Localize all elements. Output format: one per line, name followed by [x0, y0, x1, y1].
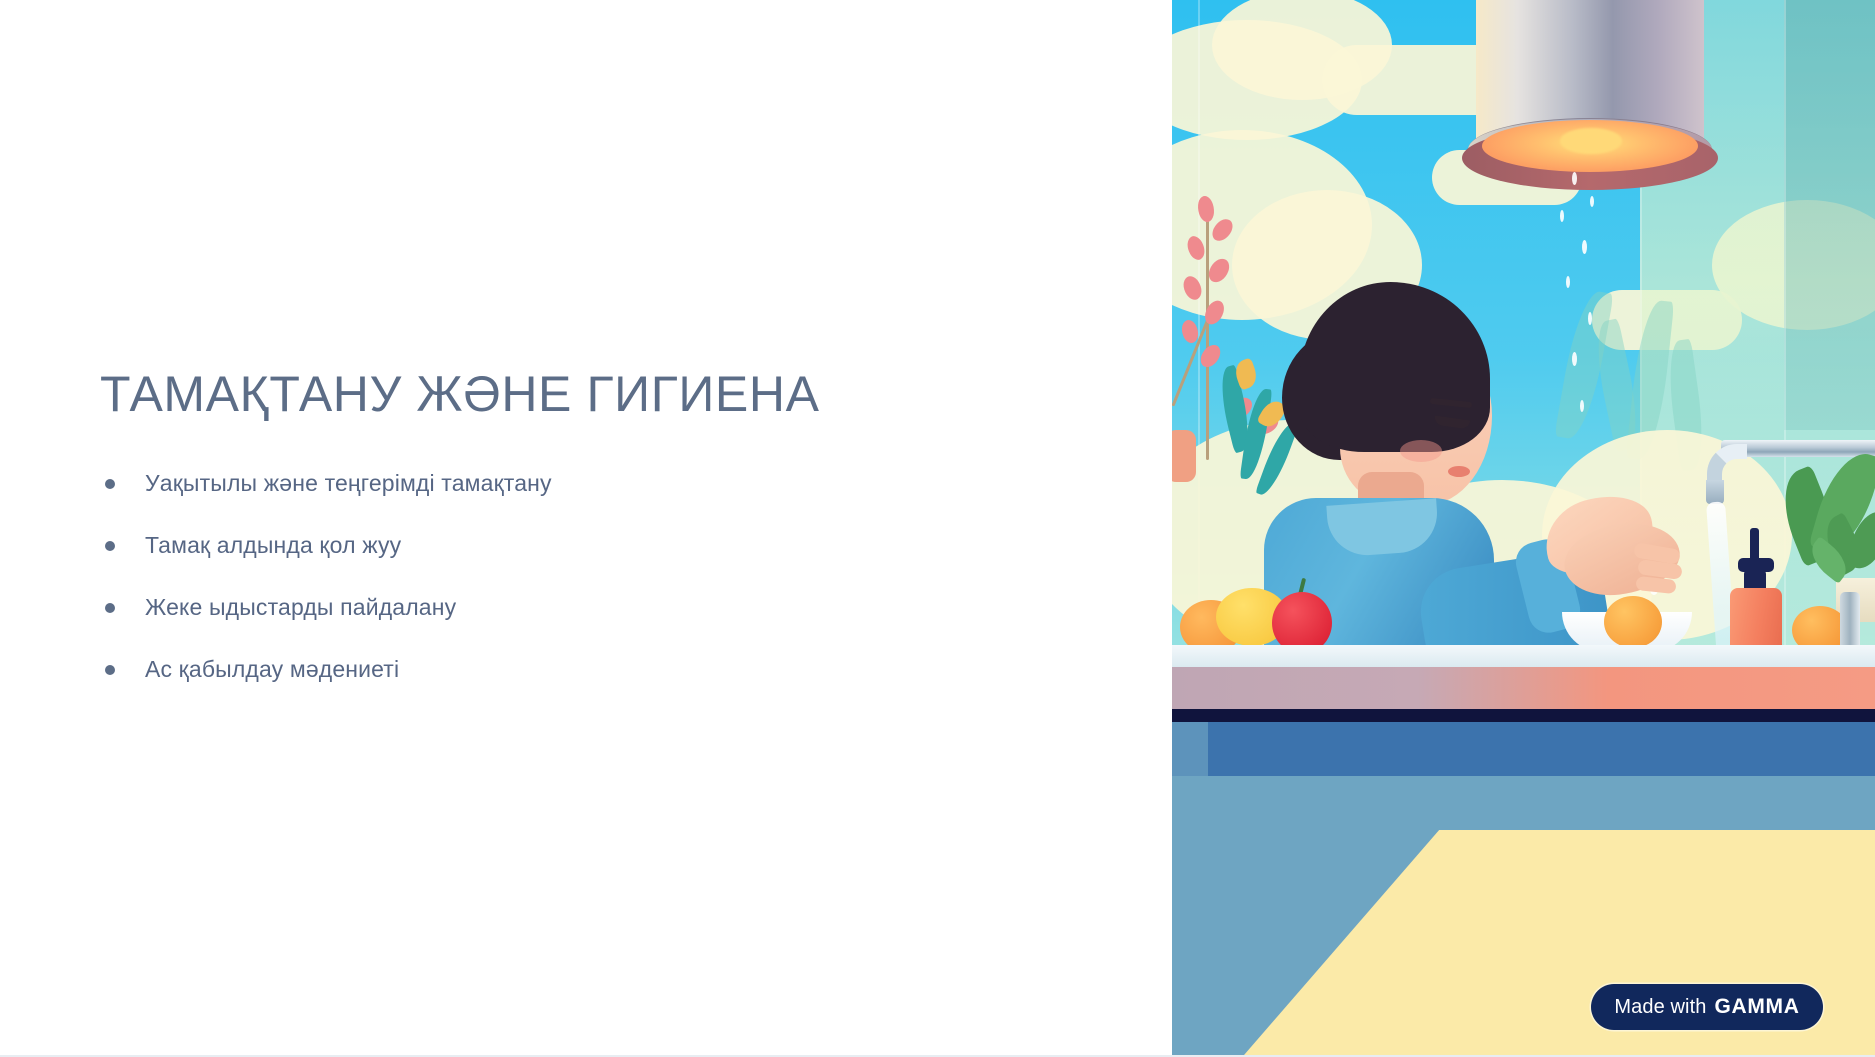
presentation-slide: ТАМАҚТАНУ ЖӘНЕ ГИГИЕНА Уақытылы және тең…	[0, 0, 1875, 1057]
list-item-label: Тамақ алдында қол жуу	[145, 530, 401, 561]
text-block: ТАМАҚТАНУ ЖӘНЕ ГИГИЕНА Уақытылы және тең…	[100, 366, 1000, 685]
water-droplet	[1590, 196, 1594, 207]
slide-illustration	[1172, 0, 1875, 1057]
water-droplet	[1560, 210, 1564, 222]
boy-blush	[1400, 440, 1442, 462]
pendant-light-bulb	[1560, 128, 1622, 154]
fruit-orange	[1604, 596, 1662, 648]
plant-stem	[1206, 200, 1209, 460]
list-item: Ас қабылдау мәдениеті	[100, 654, 1000, 685]
faucet-spout	[1706, 480, 1724, 504]
bullet-list: Уақытылы және теңгерімді тамақтану Тамақ…	[100, 468, 1000, 685]
water-droplet	[1566, 276, 1570, 288]
counter-edge	[1172, 667, 1875, 709]
badge-prefix-label: Made with	[1614, 996, 1706, 1019]
water-droplet	[1572, 172, 1577, 185]
bullet-dot-icon	[105, 603, 115, 613]
list-item-label: Ас қабылдау мәдениеті	[145, 654, 399, 685]
bullet-dot-icon	[105, 665, 115, 675]
water-droplet	[1582, 240, 1587, 254]
wall-panel	[1784, 0, 1875, 430]
list-item: Уақытылы және теңгерімді тамақтану	[100, 468, 1000, 499]
counter-surface	[1172, 645, 1875, 667]
gamma-wordmark: GAMMA	[1714, 995, 1799, 1019]
boy-lip	[1448, 466, 1470, 477]
plant-pot	[1172, 430, 1196, 482]
bullet-dot-icon	[105, 541, 115, 551]
list-item-label: Уақытылы және теңгерімді тамақтану	[145, 468, 552, 499]
water-droplet	[1572, 352, 1577, 366]
page-title: ТАМАҚТАНУ ЖӘНЕ ГИГИЕНА	[100, 366, 1000, 422]
counter-shadow-line	[1172, 709, 1875, 722]
cabinet-band-left	[1172, 722, 1208, 776]
made-with-gamma-badge[interactable]: Made with GAMMA	[1591, 984, 1823, 1030]
water-droplet	[1580, 400, 1584, 412]
list-item: Тамақ алдында қол жуу	[100, 530, 1000, 561]
list-item: Жеке ыдыстарды пайдалану	[100, 592, 1000, 623]
slide-content-pane: ТАМАҚТАНУ ЖӘНЕ ГИГИЕНА Уақытылы және тең…	[0, 0, 1172, 1057]
soap-dispenser-stem	[1750, 528, 1759, 562]
list-item-label: Жеке ыдыстарды пайдалану	[145, 592, 456, 623]
water-droplet	[1588, 312, 1592, 325]
tile-seam	[1784, 0, 1786, 700]
cabinet-band	[1172, 722, 1875, 776]
bullet-dot-icon	[105, 479, 115, 489]
